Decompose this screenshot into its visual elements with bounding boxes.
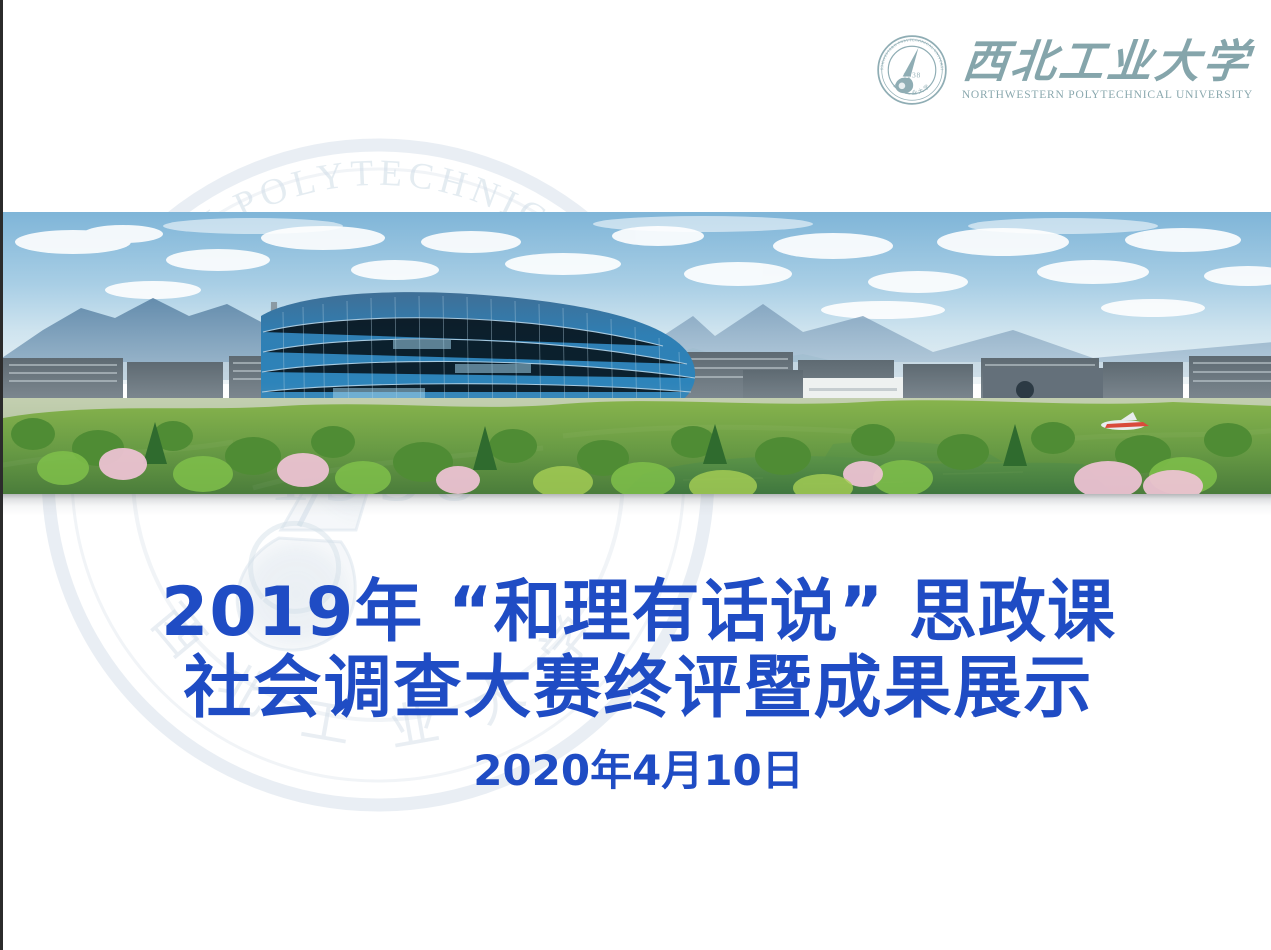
title-line-1: 2019年 “和理有话说” 思政课 [3, 575, 1271, 651]
svg-text:1938: 1938 [903, 71, 921, 80]
university-name-en: NORTHWESTERN POLYTECHNICAL UNIVERSITY [962, 89, 1253, 101]
campus-panorama-image [3, 212, 1271, 494]
title-slide: NORTHWESTERN POLYTECHNICAL UNIVERSITY 西 … [0, 0, 1271, 950]
npu-seal-icon: NORTHWESTERN POLYTECHNICAL UNIVERSITY 西北… [876, 34, 948, 106]
event-date: 2020年4月10日 [3, 745, 1271, 797]
title-line-2: 社会调查大赛终评暨成果展示 [3, 651, 1271, 727]
title-block: 2019年 “和理有话说” 思政课 社会调查大赛终评暨成果展示 2020年4月1… [3, 575, 1271, 797]
panorama-shadow [3, 494, 1271, 516]
university-name-cn: 西北工业大学 [961, 39, 1254, 86]
university-logo: NORTHWESTERN POLYTECHNICAL UNIVERSITY 西北… [876, 28, 1253, 112]
university-wordmark: 西北工业大学 NORTHWESTERN POLYTECHNICAL UNIVER… [962, 39, 1253, 101]
